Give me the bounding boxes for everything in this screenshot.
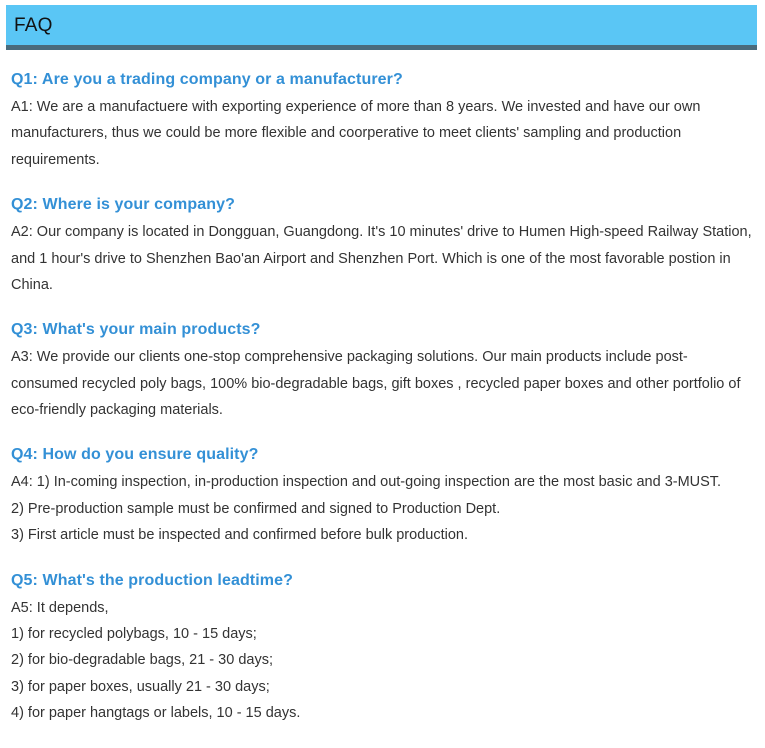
faq-question-q5: Q5: What's the production leadtime? xyxy=(11,569,753,593)
faq-question-q1: Q1: Are you a trading company or a manuf… xyxy=(11,68,753,92)
faq-answer-q5-line-2: 1) for recycled polybags, 10 - 15 days; xyxy=(11,621,753,647)
faq-answer-q1: A1: We are a manufactuere with exporting… xyxy=(11,94,753,173)
faq-item-q4: Q4: How do you ensure quality? A4: 1) In… xyxy=(11,443,753,548)
faq-answer-q4: A4: 1) In-coming inspection, in-producti… xyxy=(11,469,753,548)
faq-page: FAQ Q1: Are you a trading company or a m… xyxy=(0,0,765,748)
faq-answer-q4-line-2: 2) Pre-production sample must be confirm… xyxy=(11,496,753,522)
faq-item-q2: Q2: Where is your company? A2: Our compa… xyxy=(11,193,753,298)
faq-answer-q5: A5: It depends, 1) for recycled polybags… xyxy=(11,595,753,727)
faq-question-q2: Q2: Where is your company? xyxy=(11,193,753,217)
faq-question-q3: Q3: What's your main products? xyxy=(11,318,753,342)
faq-answer-q5-line-3: 2) for bio-degradable bags, 21 - 30 days… xyxy=(11,647,753,673)
faq-item-q1: Q1: Are you a trading company or a manuf… xyxy=(11,68,753,173)
faq-answer-q5-line-4: 3) for paper boxes, usually 21 - 30 days… xyxy=(11,674,753,700)
faq-banner: FAQ xyxy=(6,5,757,50)
faq-content: Q1: Are you a trading company or a manuf… xyxy=(11,68,753,726)
faq-answer-q4-line-3: 3) First article must be inspected and c… xyxy=(11,522,753,548)
faq-answer-q5-line-5: 4) for paper hangtags or labels, 10 - 15… xyxy=(11,700,753,726)
faq-item-q3: Q3: What's your main products? A3: We pr… xyxy=(11,318,753,423)
faq-item-q5: Q5: What's the production leadtime? A5: … xyxy=(11,569,753,727)
faq-answer-q5-line-1: A5: It depends, xyxy=(11,595,753,621)
faq-question-q4: Q4: How do you ensure quality? xyxy=(11,443,753,467)
faq-answer-q4-line-1: A4: 1) In-coming inspection, in-producti… xyxy=(11,469,753,495)
faq-answer-q2: A2: Our company is located in Dongguan, … xyxy=(11,219,753,298)
faq-answer-q3: A3: We provide our clients one-stop comp… xyxy=(11,344,753,423)
faq-banner-title: FAQ xyxy=(6,16,53,35)
